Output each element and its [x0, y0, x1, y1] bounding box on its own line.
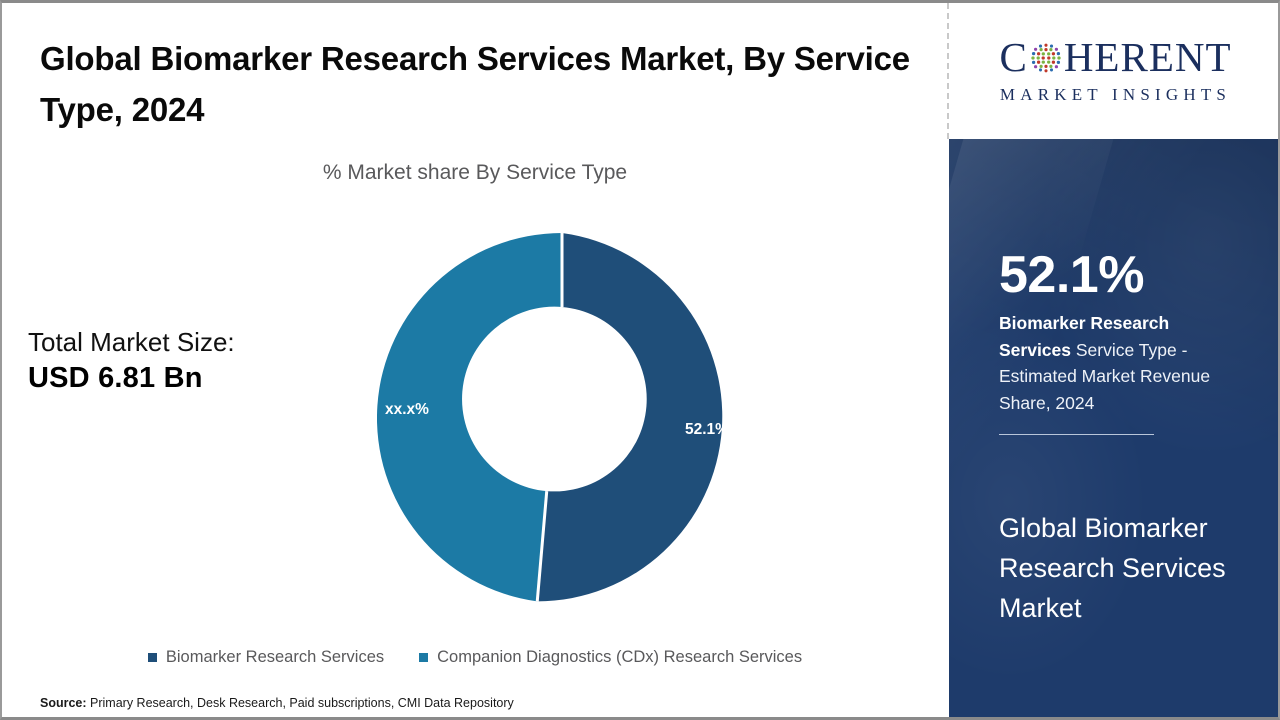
- logo-word-part-2: HERENT: [1064, 37, 1232, 78]
- highlight-stat-block: 52.1% Biomarker Research Services Servic…: [999, 249, 1239, 435]
- stat-divider-rule: [999, 434, 1154, 435]
- total-market-size-value: USD 6.81 Bn: [28, 359, 358, 398]
- legend-swatch-icon: [148, 653, 157, 662]
- legend-item-companion-diagnostics[interactable]: Companion Diagnostics (CDx) Research Ser…: [419, 648, 802, 667]
- donut-label-companion-diagnostics: xx.x%: [385, 401, 429, 419]
- page-title: Global Biomarker Research Services Marke…: [40, 33, 920, 135]
- legend-swatch-icon: [419, 653, 428, 662]
- legend-label: Biomarker Research Services: [166, 648, 384, 667]
- sidebar-stat-panel: 52.1% Biomarker Research Services Servic…: [949, 139, 1280, 720]
- chart-subtitle: % Market share By Service Type: [2, 161, 948, 185]
- stat-description: Biomarker Research Services Service Type…: [999, 310, 1239, 416]
- total-market-size-label: Total Market Size:: [28, 325, 358, 359]
- donut-label-biomarker-research-services: 52.1%: [685, 421, 729, 439]
- infographic-page: Global Biomarker Research Services Marke…: [0, 0, 1280, 720]
- logo-wordmark: C: [999, 37, 1231, 78]
- donut-chart: xx.x% 52.1%: [377, 233, 747, 603]
- brand-logo[interactable]: C: [949, 3, 1280, 139]
- legend-item-biomarker-research-services[interactable]: Biomarker Research Services: [148, 648, 384, 667]
- chart-legend: Biomarker Research Services Companion Di…: [2, 648, 948, 667]
- total-market-size-block: Total Market Size: USD 6.81 Bn: [28, 325, 358, 398]
- legend-label: Companion Diagnostics (CDx) Research Ser…: [437, 648, 802, 667]
- donut-chart-svg: [377, 233, 747, 603]
- donut-slice-biomarker-research-services[interactable]: [537, 233, 722, 601]
- source-text: Primary Research, Desk Research, Paid su…: [87, 696, 514, 710]
- globe-dots-icon: [1029, 41, 1063, 75]
- stat-percent-value: 52.1%: [999, 249, 1239, 302]
- sidebar-market-title: Global Biomarker Research Services Marke…: [999, 509, 1249, 629]
- main-content-panel: Global Biomarker Research Services Marke…: [2, 3, 948, 720]
- source-line: Source: Primary Research, Desk Research,…: [40, 696, 514, 710]
- logo-tagline: MARKET INSIGHTS: [1000, 85, 1231, 105]
- logo-word-part-1: C: [999, 37, 1027, 78]
- right-sidebar: C: [949, 3, 1280, 720]
- source-label: Source:: [40, 696, 87, 710]
